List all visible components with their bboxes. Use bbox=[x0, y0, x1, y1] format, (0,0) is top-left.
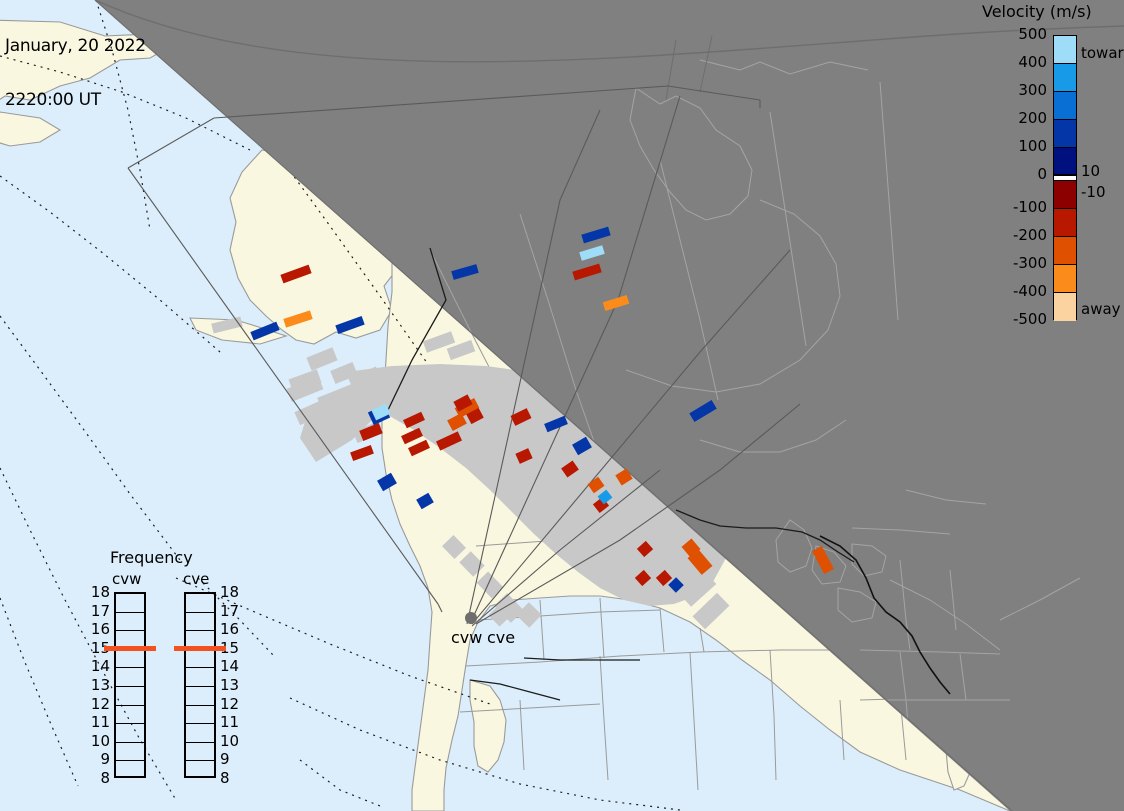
frequency-legend-title: Frequency bbox=[110, 548, 193, 567]
colorbar-segment-toward-1 bbox=[1054, 64, 1076, 92]
colorbar-zero-upper-label: 10 bbox=[1081, 162, 1100, 180]
frequency-tick-cvw-12: 12 bbox=[86, 695, 110, 713]
colorbar-segment-away-3 bbox=[1054, 265, 1076, 293]
frequency-tick-cve-13: 13 bbox=[220, 676, 244, 694]
colorbar-tick-300: 300 bbox=[985, 81, 1047, 99]
colorbar-tick--200: -200 bbox=[985, 226, 1047, 244]
frequency-cell bbox=[116, 613, 144, 632]
colorbar-away-label: away bbox=[1081, 300, 1121, 318]
frequency-marker-cvw bbox=[104, 646, 156, 651]
frequency-legend: Frequency cvw cve 18171615141312111098 1… bbox=[92, 548, 237, 783]
frequency-marker-cve bbox=[174, 646, 226, 651]
frequency-cell bbox=[186, 706, 214, 725]
frequency-bar-cvw[interactable] bbox=[114, 592, 146, 778]
frequency-tick-cve-10: 10 bbox=[220, 732, 244, 750]
frequency-tick-cve-16: 16 bbox=[220, 620, 244, 638]
frequency-bar-cve[interactable] bbox=[184, 592, 216, 778]
colorbar-tick--300: -300 bbox=[985, 254, 1047, 272]
frequency-tick-cve-11: 11 bbox=[220, 713, 244, 731]
colorbar-segment-toward-0 bbox=[1054, 36, 1076, 64]
frequency-cell bbox=[186, 743, 214, 762]
colorbar-tick-0: 0 bbox=[985, 165, 1047, 183]
frequency-tick-cvw-9: 9 bbox=[86, 750, 110, 768]
colorbar-segment-away-2 bbox=[1054, 237, 1076, 265]
frequency-tick-cvw-18: 18 bbox=[86, 583, 110, 601]
colorbar-tick--100: -100 bbox=[985, 198, 1047, 216]
frequency-cell bbox=[186, 650, 214, 669]
radar-map-view: January, 20 2022 2220:00 UT Velocity (m/… bbox=[0, 0, 1124, 811]
frequency-column-label-cvw: cvw bbox=[112, 570, 141, 588]
colorbar-tick--400: -400 bbox=[985, 282, 1047, 300]
frequency-tick-cve-17: 17 bbox=[220, 602, 244, 620]
colorbar-zero-lower-label: -10 bbox=[1081, 183, 1106, 201]
colorbar-segment-toward-3 bbox=[1054, 120, 1076, 148]
title-date: January, 20 2022 bbox=[5, 37, 146, 55]
frequency-cell bbox=[116, 668, 144, 687]
colorbar-segment-toward-2 bbox=[1054, 92, 1076, 120]
frequency-cell bbox=[186, 613, 214, 632]
colorbar-toward-label: toward bbox=[1081, 44, 1124, 62]
frequency-tick-cvw-17: 17 bbox=[86, 602, 110, 620]
frequency-cell bbox=[116, 706, 144, 725]
frequency-tick-cvw-16: 16 bbox=[86, 620, 110, 638]
frequency-tick-cvw-13: 13 bbox=[86, 676, 110, 694]
radar-site-label-cvw: cvw bbox=[451, 628, 482, 647]
radar-site-label-cve: cve bbox=[487, 628, 515, 647]
frequency-tick-cvw-11: 11 bbox=[86, 713, 110, 731]
frequency-tick-cvw-14: 14 bbox=[86, 657, 110, 675]
timestamp-title: January, 20 2022 2220:00 UT bbox=[5, 1, 146, 145]
frequency-cell bbox=[186, 687, 214, 706]
frequency-cell bbox=[186, 761, 214, 780]
frequency-cell bbox=[116, 743, 144, 762]
colorbar-tick--500: -500 bbox=[985, 310, 1047, 328]
frequency-tick-cve-12: 12 bbox=[220, 695, 244, 713]
colorbar-segment-away-0 bbox=[1054, 181, 1076, 209]
frequency-cell bbox=[116, 761, 144, 780]
colorbar-segment-toward-4 bbox=[1054, 148, 1076, 176]
radar-site-marker[interactable] bbox=[465, 612, 477, 624]
frequency-tick-cvw-10: 10 bbox=[86, 732, 110, 750]
frequency-cell bbox=[116, 650, 144, 669]
colorbar-title: Velocity (m/s) bbox=[982, 2, 1092, 21]
frequency-tick-cvw-8: 8 bbox=[86, 769, 110, 787]
colorbar-tick-500: 500 bbox=[985, 25, 1047, 43]
colorbar-tick-400: 400 bbox=[985, 53, 1047, 71]
frequency-tick-cve-9: 9 bbox=[220, 750, 244, 768]
frequency-cell bbox=[186, 668, 214, 687]
frequency-cell bbox=[186, 724, 214, 743]
frequency-cell bbox=[186, 594, 214, 613]
frequency-cell bbox=[116, 594, 144, 613]
frequency-tick-cve-18: 18 bbox=[220, 583, 244, 601]
colorbar-tick-labels: 5004003002001000-100-200-300-400-500 bbox=[985, 35, 1047, 320]
colorbar-tick-100: 100 bbox=[985, 137, 1047, 155]
frequency-column-label-cve: cve bbox=[183, 570, 209, 588]
frequency-tick-cve-14: 14 bbox=[220, 657, 244, 675]
frequency-cell bbox=[116, 687, 144, 706]
colorbar-segment-away-1 bbox=[1054, 209, 1076, 237]
colorbar-segment-away-4 bbox=[1054, 293, 1076, 321]
frequency-cell bbox=[116, 724, 144, 743]
frequency-tick-cve-8: 8 bbox=[220, 769, 244, 787]
title-time: 2220:00 UT bbox=[5, 91, 146, 109]
colorbar-tick-200: 200 bbox=[985, 109, 1047, 127]
velocity-colorbar[interactable] bbox=[1053, 35, 1077, 320]
